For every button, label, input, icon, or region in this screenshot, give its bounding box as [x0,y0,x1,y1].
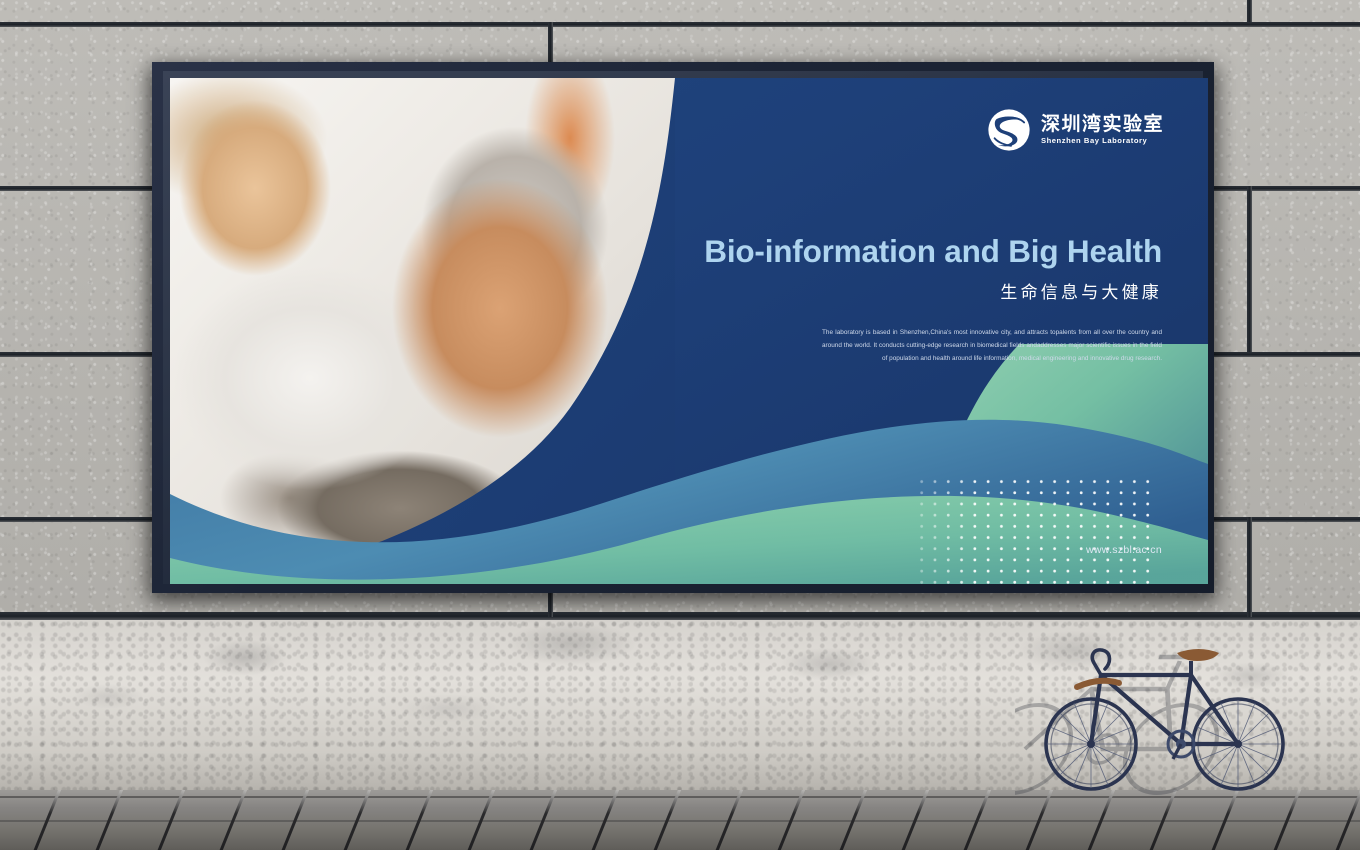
poster-subheadline: 生命信息与大健康 [1000,278,1162,303]
wall-seam-vertical [1247,186,1252,352]
poster-body-text: The laboratory is based in Shenzhen,Chin… [822,326,1162,365]
poster-headline: Bio-information and Big Health [704,233,1162,270]
shenzhen-bay-laboratory-logo-mark [987,108,1031,152]
logo-lockup: 深圳湾实验室 Shenzhen Bay Laboratory [987,108,1164,152]
wall-seam-vertical [1247,0,1252,22]
dot-grid-decoration [915,476,1153,584]
bicycle-body [1046,649,1283,789]
logo-text-block: 深圳湾实验室 Shenzhen Bay Laboratory [1041,115,1164,145]
logo-name-cn: 深圳湾实验室 [1041,115,1164,134]
wall-seam-vertical [1247,517,1252,617]
logo-name-en: Shenzhen Bay Laboratory [1041,137,1164,145]
wall-seam-horizontal [0,612,1360,620]
poster-canvas: 深圳湾实验室 Shenzhen Bay Laboratory Bio-infor… [170,78,1208,584]
billboard-scene: /*lines injected below*/ [0,0,1360,850]
vintage-bicycle [1015,625,1305,800]
wall-seam-horizontal [0,22,1360,27]
poster-url: www.szbl.ac.cn [1086,544,1162,556]
